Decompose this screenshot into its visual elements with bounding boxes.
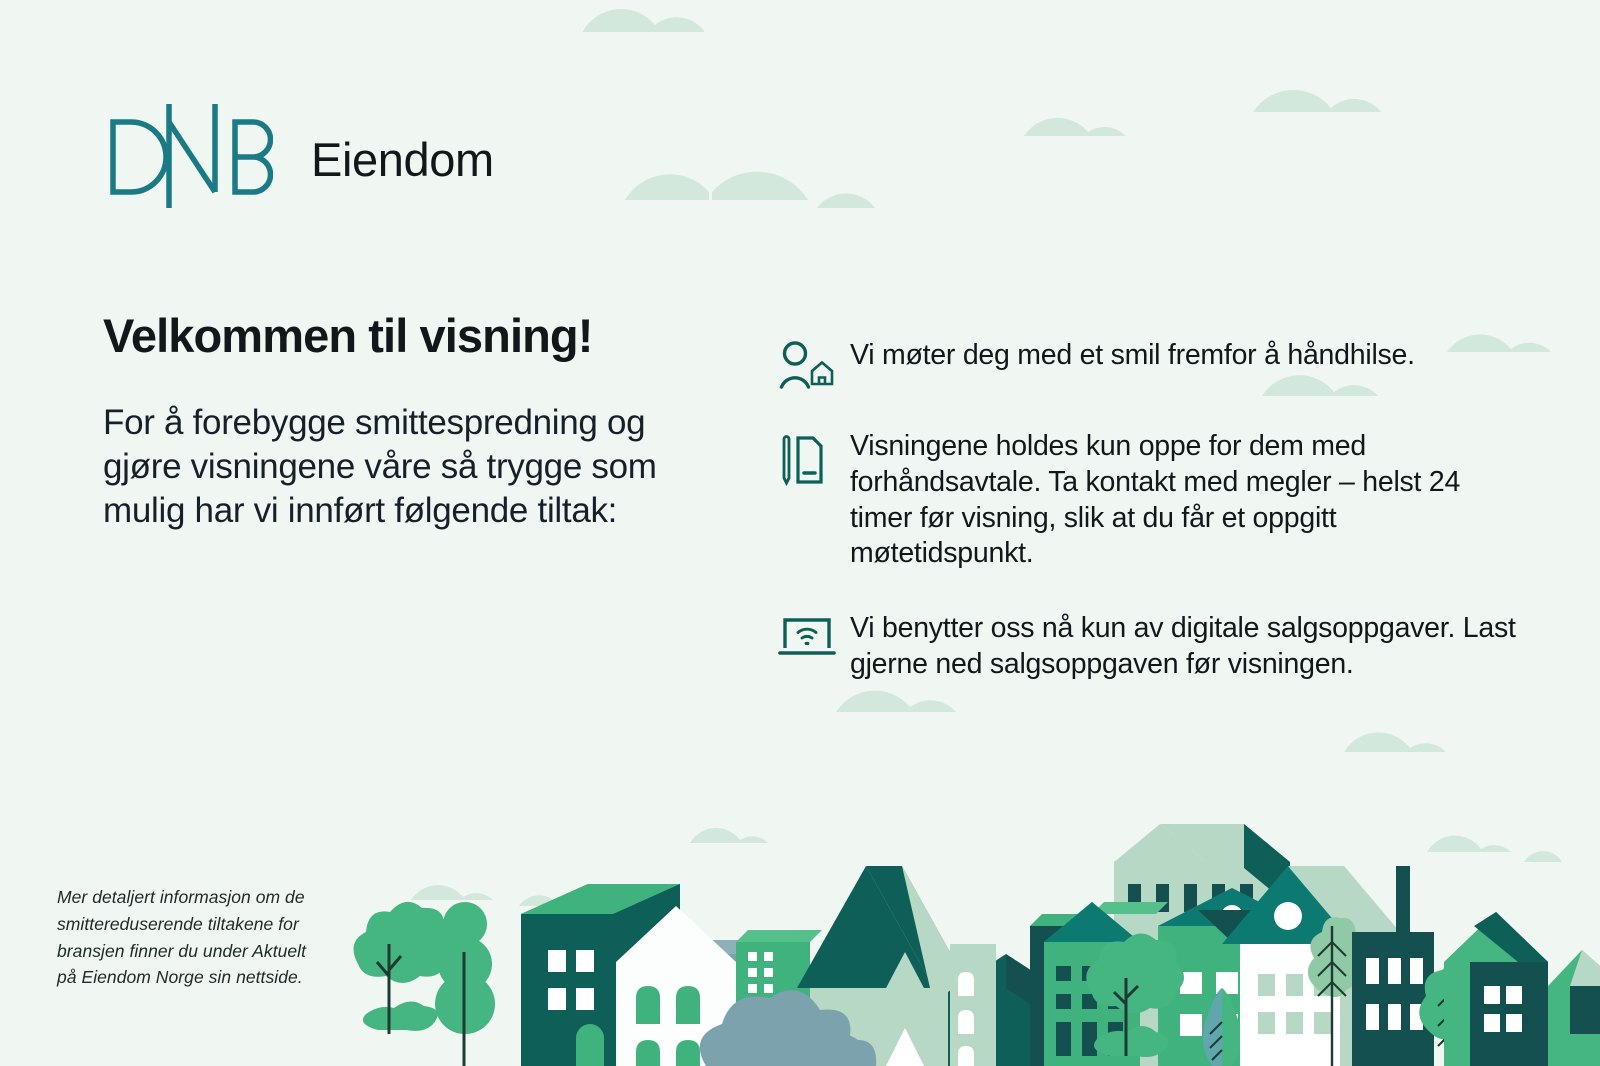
- brand-logo: Eiendom: [105, 104, 494, 208]
- tree-group-poplar: [435, 902, 495, 1066]
- list-item-text: Visningene holdes kun oppe for dem med f…: [850, 427, 1518, 572]
- building-edge-stem: [1396, 866, 1410, 952]
- intro-block: Velkommen til visning! For å forebygge s…: [103, 310, 723, 533]
- building-green-right: [1444, 912, 1548, 1066]
- list-item: Vi benytter oss nå kun av digitale salgs…: [778, 609, 1518, 683]
- intro-paragraph: For å forebygge smittespredning og gjøre…: [103, 401, 723, 533]
- building-dark-slab-right: [1352, 932, 1434, 1066]
- list-item: Visningene holdes kun oppe for dem med f…: [778, 427, 1518, 572]
- building-mint-arch: [950, 944, 996, 1066]
- brand-name: Eiendom: [311, 136, 494, 183]
- list-item-text: Vi møter deg med et smil fremfor å håndh…: [850, 336, 1415, 374]
- pen-document-icon: [778, 427, 850, 486]
- footnote-text: Mer detaljert informasjon om de smittere…: [57, 884, 317, 991]
- laptop-wifi-icon: [778, 609, 850, 659]
- person-house-icon: [778, 336, 850, 390]
- measures-list: Vi møter deg med et smil fremfor å håndh…: [778, 336, 1518, 683]
- list-item: Vi møter deg med et smil fremfor å håndh…: [778, 336, 1518, 390]
- dnb-logo-icon: [105, 104, 273, 208]
- page-title: Velkommen til visning!: [103, 310, 723, 363]
- list-item-text: Vi benytter oss nå kun av digitale salgs…: [850, 609, 1518, 683]
- building-small-gable-edge: [1548, 950, 1600, 1066]
